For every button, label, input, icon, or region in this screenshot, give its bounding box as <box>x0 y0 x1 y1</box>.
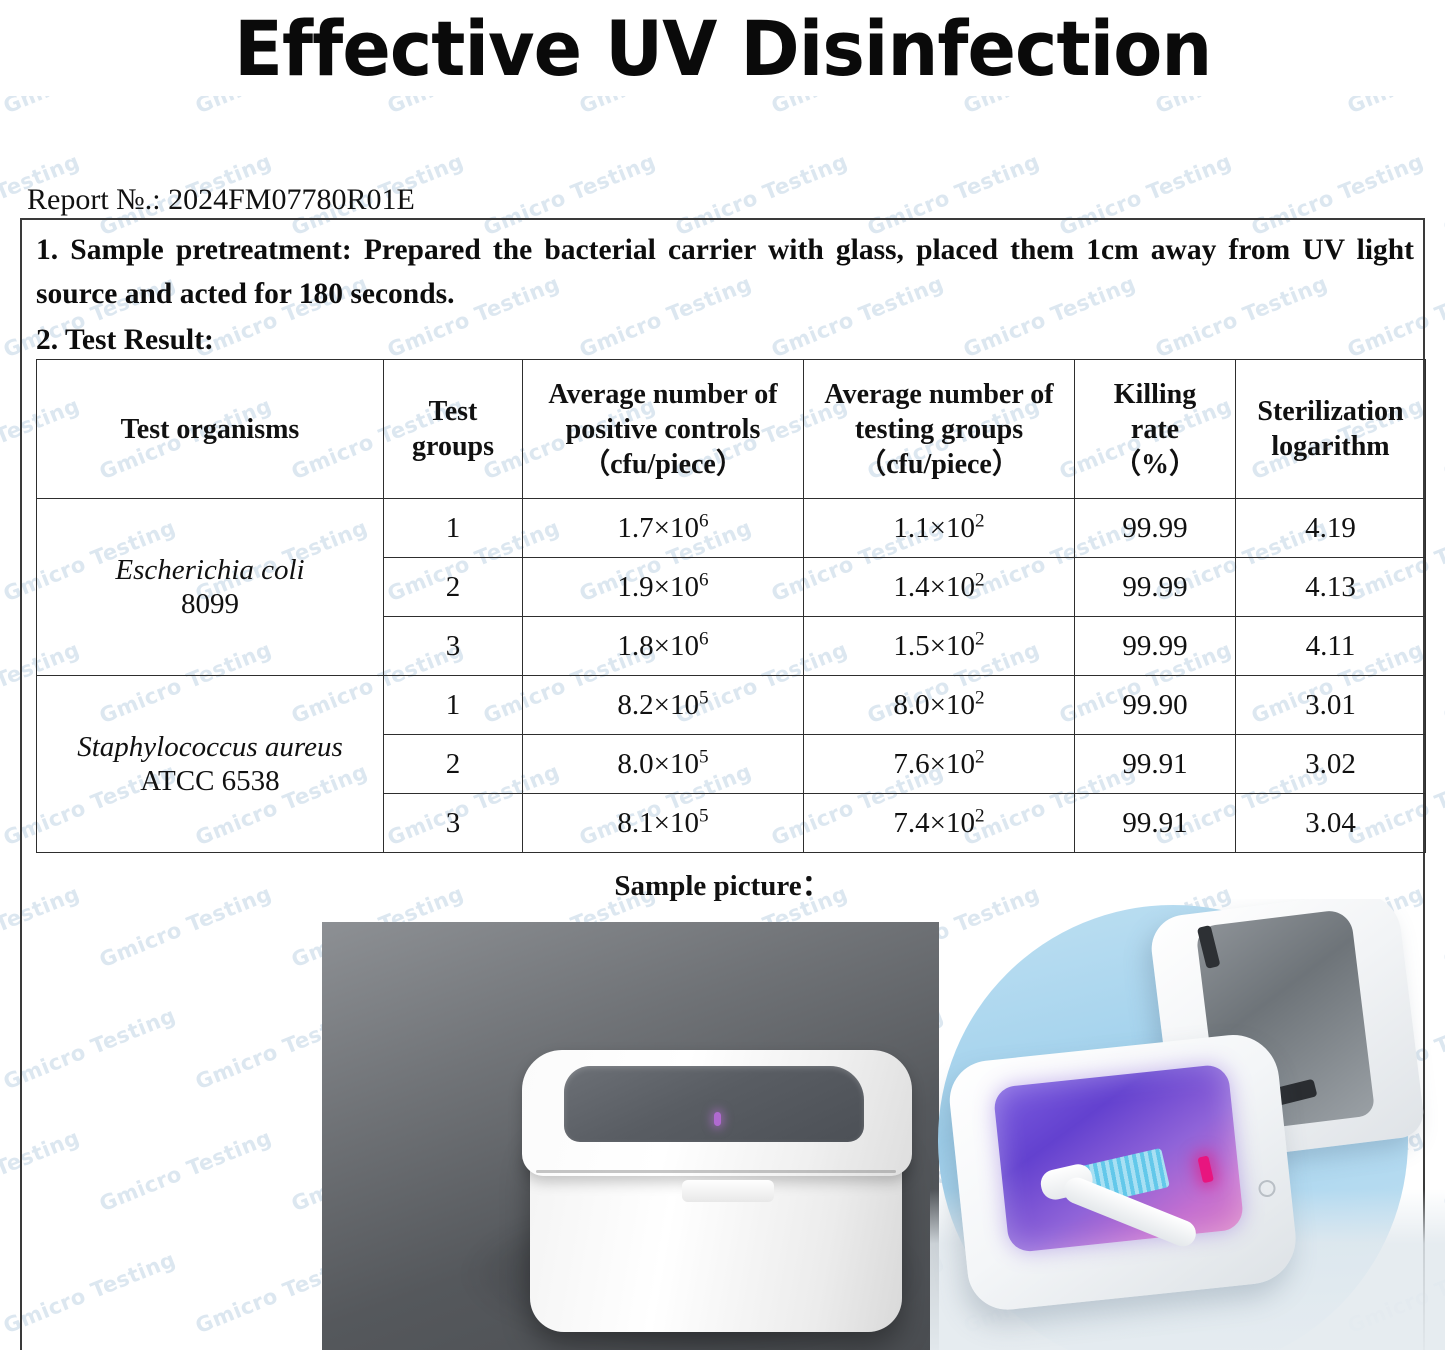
table-row: Staphylococcus aureusATCC 653818.2×1058.… <box>37 676 1426 735</box>
watermark-text: Gmicro Testing <box>1440 393 1445 484</box>
value-mantissa: 8.0×10 <box>617 748 699 780</box>
value-mantissa: 1.4×10 <box>893 571 975 603</box>
value-mantissa: 1.7×10 <box>617 512 699 544</box>
cell-killing-rate: 99.99 <box>1075 617 1236 676</box>
cell-test-group: 1 <box>384 499 523 558</box>
value-exponent: 2 <box>975 510 985 531</box>
col-header-line: rate <box>1131 414 1179 445</box>
col-header-line: Average number of <box>548 379 777 410</box>
device-lid <box>522 1050 912 1176</box>
col-header-line: groups <box>412 431 494 462</box>
cell-test-group: 1 <box>384 676 523 735</box>
organism-strain: ATCC 6538 <box>37 764 383 798</box>
cell-sterilization-logarithm: 3.02 <box>1236 735 1426 794</box>
cell-killing-rate: 99.91 <box>1075 735 1236 794</box>
cell-organism: Escherichia coli8099 <box>37 499 384 676</box>
cell-sterilization-logarithm: 3.01 <box>1236 676 1426 735</box>
watermark-text: Gmicro Testing <box>192 96 371 118</box>
value-mantissa: 1.8×10 <box>617 630 699 662</box>
value-exponent: 6 <box>699 510 709 531</box>
cell-positive-control: 8.2×105 <box>523 676 804 735</box>
value-exponent: 2 <box>975 805 985 826</box>
col-header-line: positive controls <box>566 414 761 445</box>
cell-testing-group: 1.4×102 <box>804 558 1075 617</box>
sample-pretreatment-text: 1. Sample pretreatment: Prepared the bac… <box>36 228 1414 316</box>
latch-tab <box>682 1180 774 1202</box>
sample-photo-area <box>0 915 1445 1352</box>
cell-testing-group: 1.1×102 <box>804 499 1075 558</box>
cell-organism: Staphylococcus aureusATCC 6538 <box>37 676 384 853</box>
watermark-text: Gmicro Testing <box>768 96 947 118</box>
table-body: Escherichia coli809911.7×1061.1×10299.99… <box>37 499 1426 853</box>
col-header-sterilization-logarithm: Sterilization logarithm <box>1236 360 1426 499</box>
cell-positive-control: 1.9×106 <box>523 558 804 617</box>
test-result-table: Test organisms Test groups Average numbe… <box>36 359 1426 853</box>
value-exponent: 5 <box>699 805 709 826</box>
value-exponent: 2 <box>975 746 985 767</box>
value-exponent: 5 <box>699 746 709 767</box>
power-button-icon <box>1258 1179 1277 1198</box>
value-mantissa: 1.5×10 <box>893 630 975 662</box>
watermark-text: Gmicro Testing <box>0 96 179 118</box>
sample-picture-caption: Sample picture： <box>0 862 1445 904</box>
cell-testing-group: 7.6×102 <box>804 735 1075 794</box>
open-device-body <box>946 1030 1300 1313</box>
organism-species-name: Escherichia coli <box>37 553 383 587</box>
value-exponent: 6 <box>699 628 709 649</box>
table-row: Escherichia coli809911.7×1061.1×10299.99… <box>37 499 1426 558</box>
col-header-line: （cfu/piece） <box>582 449 744 480</box>
col-header-positive-controls: Average number of positive controls （cfu… <box>523 360 804 499</box>
col-header-line: （cfu/piece） <box>858 449 1020 480</box>
cell-killing-rate: 99.91 <box>1075 794 1236 853</box>
uv-indicator-glow <box>714 1112 721 1126</box>
cell-positive-control: 8.0×105 <box>523 735 804 794</box>
table-header-row: Test organisms Test groups Average numbe… <box>37 360 1426 499</box>
value-exponent: 2 <box>975 569 985 590</box>
uv-led-indicator <box>1197 1155 1214 1183</box>
value-mantissa: 1.9×10 <box>617 571 699 603</box>
col-header-line: （%） <box>1113 449 1197 480</box>
value-mantissa: 8.2×10 <box>617 689 699 721</box>
value-exponent: 5 <box>699 687 709 708</box>
lid-seam <box>536 1170 896 1173</box>
organism-species-name: Staphylococcus aureus <box>37 730 383 764</box>
col-header-test-organisms: Test organisms <box>37 360 384 499</box>
watermark-text: Gmicro Testing <box>384 96 563 118</box>
col-header-test-groups: Test groups <box>384 360 523 499</box>
table-header: Test organisms Test groups Average numbe… <box>37 360 1426 499</box>
page-title-bar: Effective UV Disinfection <box>0 0 1445 96</box>
cell-testing-group: 8.0×102 <box>804 676 1075 735</box>
cell-killing-rate: 99.99 <box>1075 499 1236 558</box>
watermark-text: Gmicro Testing <box>1440 637 1445 728</box>
cell-test-group: 3 <box>384 617 523 676</box>
lid-window <box>564 1066 864 1142</box>
cell-test-group: 3 <box>384 794 523 853</box>
value-mantissa: 7.4×10 <box>893 807 975 839</box>
value-exponent: 6 <box>699 569 709 590</box>
uv-sanitizer-closed-photo <box>322 922 939 1352</box>
col-header-line: Killing <box>1114 379 1196 410</box>
col-header-line: Average number of <box>824 379 1053 410</box>
watermark-text: Gmicro Testing <box>960 96 1139 118</box>
value-mantissa: 8.1×10 <box>617 807 699 839</box>
cell-killing-rate: 99.99 <box>1075 558 1236 617</box>
cell-sterilization-logarithm: 3.04 <box>1236 794 1426 853</box>
value-exponent: 2 <box>975 687 985 708</box>
cell-positive-control: 1.8×106 <box>523 617 804 676</box>
col-header-line: Test <box>429 396 478 427</box>
cell-sterilization-logarithm: 4.13 <box>1236 558 1426 617</box>
watermark-text: Gmicro Testing <box>576 96 755 118</box>
value-mantissa: 7.6×10 <box>893 748 975 780</box>
col-header-line: Sterilization <box>1257 396 1403 427</box>
cell-sterilization-logarithm: 4.11 <box>1236 617 1426 676</box>
page-title: Effective UV Disinfection <box>234 4 1211 93</box>
cell-testing-group: 1.5×102 <box>804 617 1075 676</box>
value-exponent: 2 <box>975 628 985 649</box>
report-number-line: Report №.: 2024FM07780R01E <box>27 183 415 217</box>
watermark-text: Gmicro Testing <box>1344 96 1445 118</box>
intro-block: 1. Sample pretreatment: Prepared the bac… <box>36 228 1414 362</box>
cell-positive-control: 8.1×105 <box>523 794 804 853</box>
col-header-line: testing groups <box>855 414 1023 445</box>
watermark-text: Gmicro Testing <box>1152 96 1331 118</box>
document-page: Effective UV Disinfection Gmicro Testing… <box>0 0 1445 1352</box>
cell-testing-group: 7.4×102 <box>804 794 1075 853</box>
value-mantissa: 1.1×10 <box>893 512 975 544</box>
col-header-line: logarithm <box>1271 431 1389 462</box>
cell-positive-control: 1.7×106 <box>523 499 804 558</box>
uv-sanitizer-open-toothbrush-photo <box>930 899 1445 1352</box>
cell-killing-rate: 99.90 <box>1075 676 1236 735</box>
value-mantissa: 8.0×10 <box>893 689 975 721</box>
watermark-text: Gmicro Testing <box>1440 149 1445 240</box>
col-header-killing-rate: Killing rate （%） <box>1075 360 1236 499</box>
col-header-testing-groups: Average number of testing groups （cfu/pi… <box>804 360 1075 499</box>
cell-sterilization-logarithm: 4.19 <box>1236 499 1426 558</box>
organism-strain: 8099 <box>37 587 383 621</box>
test-result-heading: 2. Test Result: <box>36 318 1414 362</box>
cell-test-group: 2 <box>384 558 523 617</box>
uv-light-cavity <box>993 1064 1245 1254</box>
cell-test-group: 2 <box>384 735 523 794</box>
